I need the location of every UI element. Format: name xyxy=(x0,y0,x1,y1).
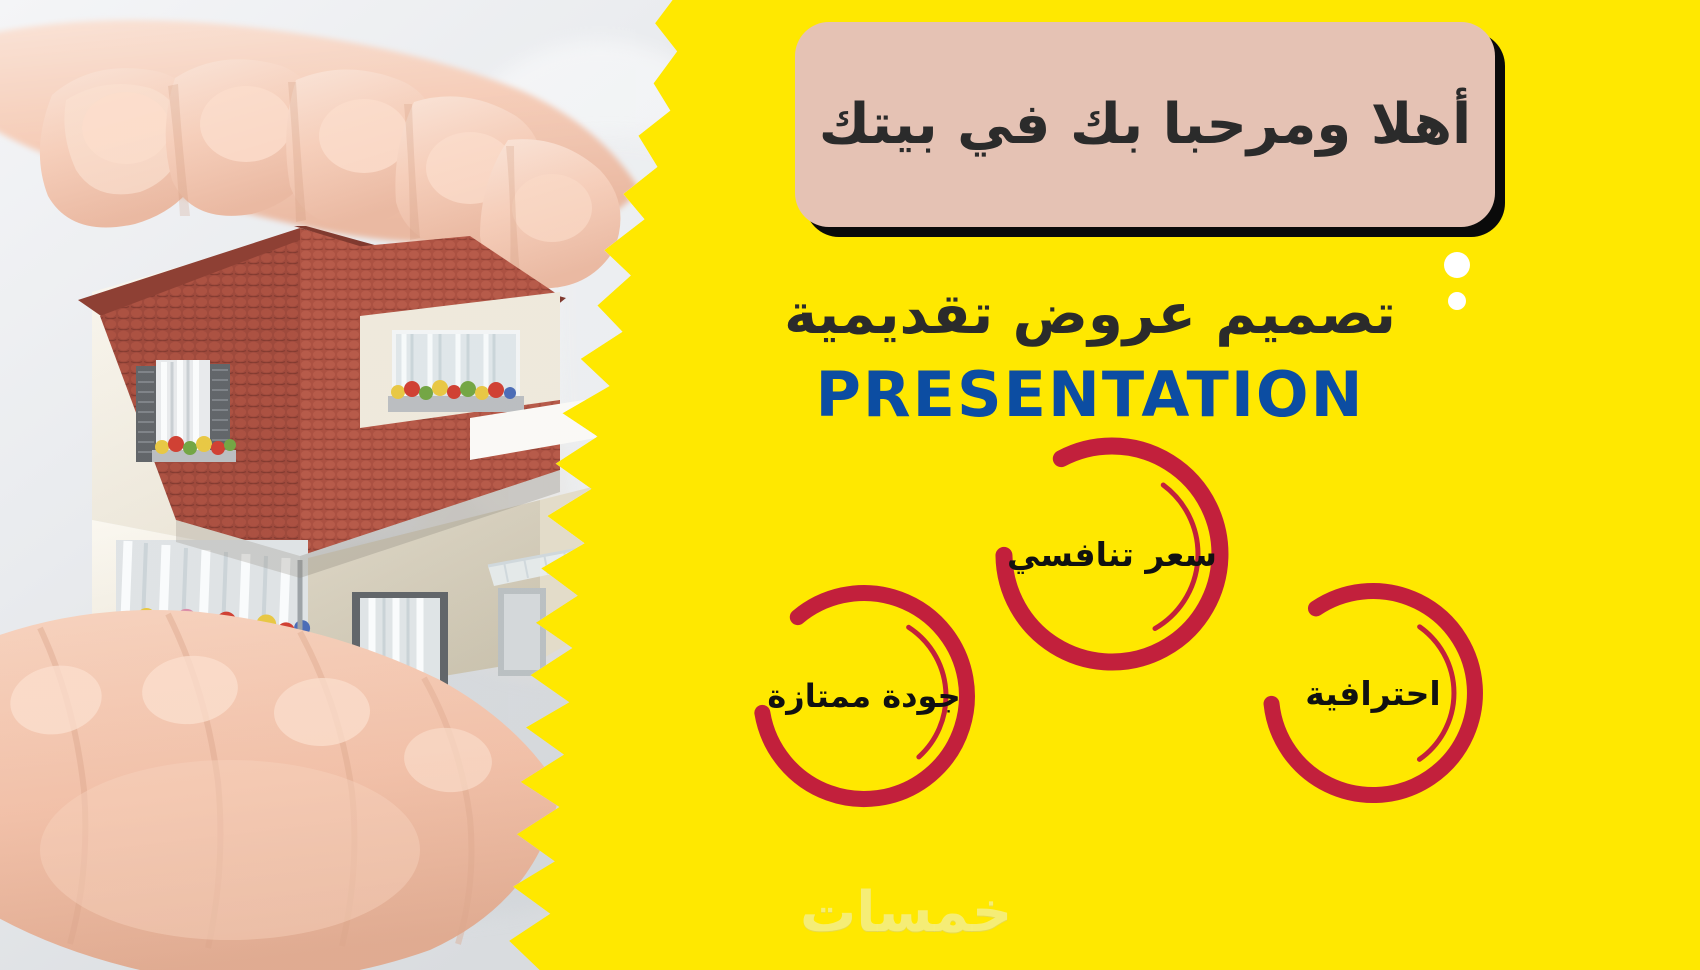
decorative-dot-large-icon xyxy=(1444,252,1470,278)
hands-holding-model-house-image xyxy=(0,0,760,970)
badge-professionalism: احترافية xyxy=(1258,578,1488,808)
page-title: أهلا ومرحبا بك في بيتك xyxy=(819,92,1471,157)
watermark-logo: خمسات xyxy=(800,880,1012,945)
badge-competitive-price: سعر تنافسي xyxy=(990,432,1234,676)
subtitle-english: PRESENTATION xyxy=(700,358,1480,431)
header-plaque: أهلا ومرحبا بك في بيتك xyxy=(795,22,1495,227)
badge-excellent-quality: جودة ممتازة xyxy=(748,580,980,812)
hero-photo xyxy=(0,0,760,970)
poster-canvas: أهلا ومرحبا بك في بيتك تصميم عروض تقديمي… xyxy=(0,0,1700,970)
subtitle-arabic: تصميم عروض تقديمية xyxy=(700,282,1480,347)
